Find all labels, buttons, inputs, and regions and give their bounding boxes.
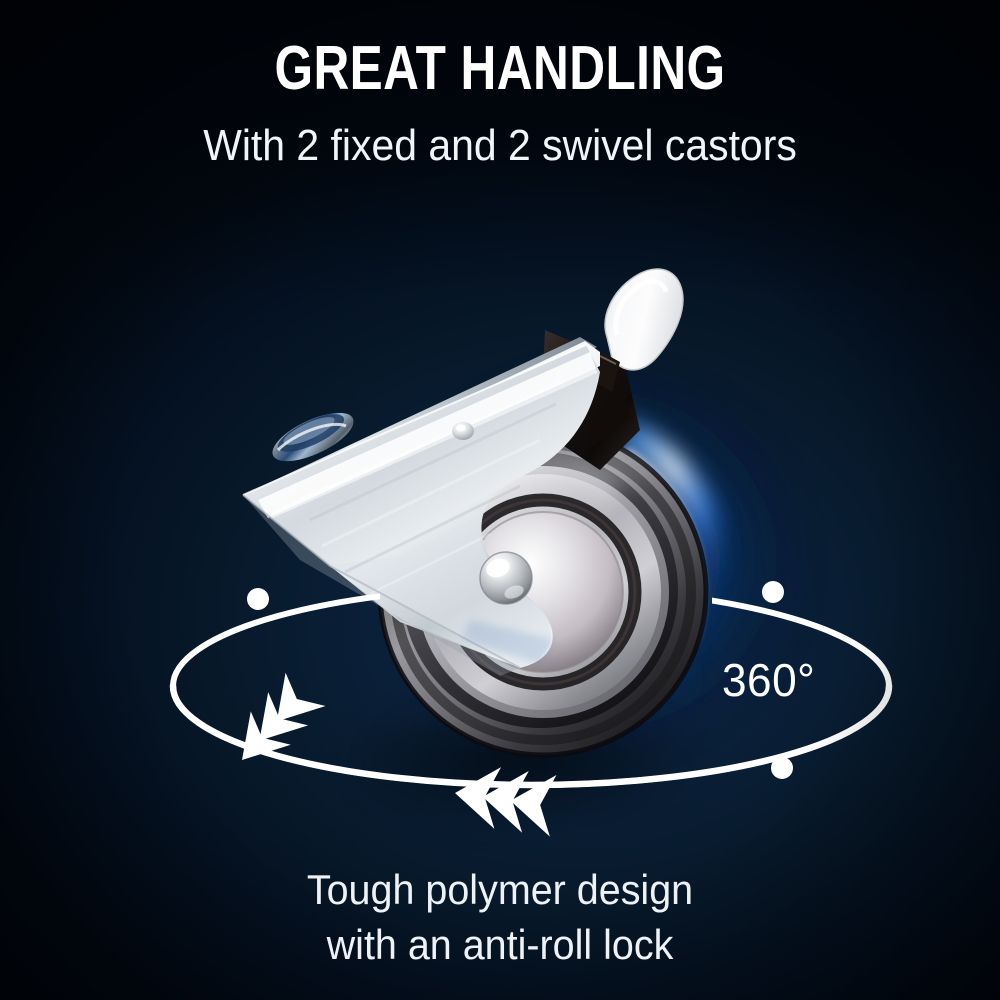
promo-graphic: 75x25 — [0, 0, 1000, 1000]
feature-caption-line2: with an anti-roll lock — [30, 917, 970, 972]
page-subtitle: With 2 fixed and 2 swivel castors — [35, 123, 965, 169]
feature-caption-line1: Tough polymer design — [30, 862, 970, 917]
page-title: GREAT HANDLING — [100, 38, 900, 100]
feature-caption: Tough polymer design with an anti-roll l… — [30, 862, 970, 973]
